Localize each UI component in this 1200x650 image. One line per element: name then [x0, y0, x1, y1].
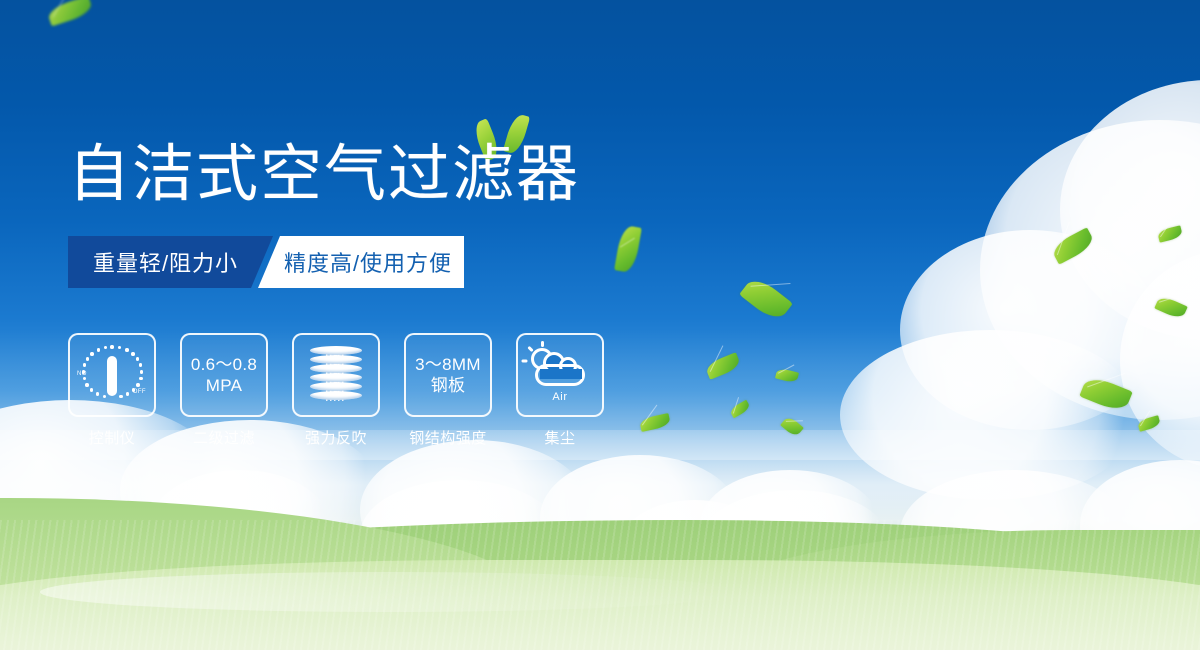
feature-label: 集尘: [544, 427, 575, 448]
air-label: Air: [552, 391, 567, 403]
subtitle-strip: 重量轻/阻力小 精度高/使用方便: [68, 236, 464, 288]
dial-needle: [107, 356, 117, 396]
feature-item-pressure[interactable]: 0.6～0.8 MPA 二级过滤: [180, 333, 268, 448]
feature-label: 强力反吹: [305, 427, 367, 448]
subtitle-right-panel: 精度高/使用方便: [258, 236, 464, 288]
page-title: 自洁式空气过滤器: [68, 144, 580, 206]
banner-content: 自洁式空气过滤器 重量轻/阻力小 精度高/使用方便: [0, 0, 1200, 650]
subtitle-left-text: 重量轻/阻力小: [93, 246, 238, 278]
air-cloud-icon: [529, 348, 591, 388]
steel-value-line1: 3～8MM: [415, 354, 481, 375]
feature-label: 钢结构强度: [409, 427, 487, 448]
feature-icon-box: 0.6～0.8 MPA: [180, 333, 268, 417]
feature-label: 二级过滤: [193, 427, 255, 448]
feature-item-control-dial[interactable]: NO OFF 控制仪: [68, 333, 156, 448]
subtitle-left-panel: 重量轻/阻力小: [68, 236, 273, 288]
feature-list: NO OFF 控制仪 0.6～0.8 MPA 二级过滤: [68, 333, 604, 448]
cloud-merge-mask: [540, 369, 582, 379]
control-dial-icon: NO OFF: [79, 344, 145, 406]
feature-item-backblow[interactable]: 强力反吹: [292, 333, 380, 448]
dial-label-off: OFF: [133, 389, 146, 395]
feature-icon-box: 3～8MM 钢板: [404, 333, 492, 417]
subtitle-right-text: 精度高/使用方便: [284, 246, 452, 278]
feature-item-steel[interactable]: 3～8MM 钢板 钢结构强度: [404, 333, 492, 448]
product-banner: 自洁式空气过滤器 重量轻/阻力小 精度高/使用方便: [0, 0, 1200, 650]
dial-label-no: NO: [77, 371, 87, 377]
feature-icon-box: NO OFF: [68, 333, 156, 417]
steel-value-line2: 钢板: [431, 375, 466, 396]
feature-item-dust[interactable]: Air 集尘: [516, 333, 604, 448]
pressure-value-line2: MPA: [206, 375, 242, 396]
feature-icon-box: Air: [516, 333, 604, 417]
pressure-value-line1: 0.6～0.8: [191, 354, 257, 375]
feature-label: 控制仪: [89, 427, 136, 448]
feature-icon-box: [292, 333, 380, 417]
filter-coil-icon: [310, 346, 362, 404]
